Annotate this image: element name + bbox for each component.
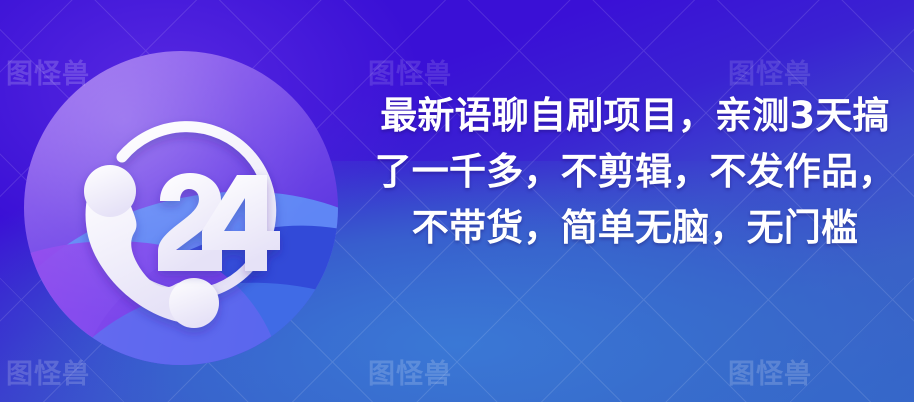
badge-artwork [24, 51, 338, 365]
badge-number-24 [158, 173, 280, 271]
support-badge-circle [24, 51, 338, 365]
course-cover-banner: 最新语聊自刷项目，亲测3天搞了一千多，不剪辑，不发作品，不带货，简单无脑，无门槛… [0, 0, 914, 402]
page-title: 最新语聊自刷项目，亲测3天搞了一千多，不剪辑，不发作品，不带货，简单无脑，无门槛 [365, 88, 905, 256]
